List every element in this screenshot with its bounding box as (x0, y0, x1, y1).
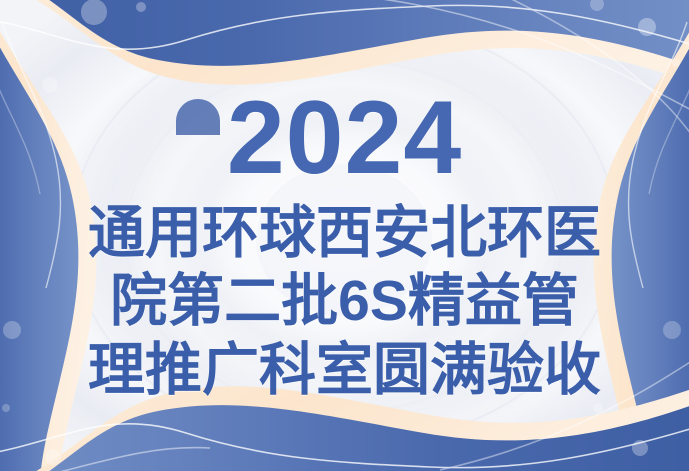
headline-line-2: 院第二批6S精益管 (110, 272, 579, 331)
poster-content: 2024 通用环球西安北环医 院第二批6S精益管 理推广科室圆满验收 (0, 0, 689, 471)
headline-block: 通用环球西安北环医 院第二批6S精益管 理推广科室圆满验收 (88, 204, 601, 400)
headline-line-1: 通用环球西安北环医 (88, 204, 601, 263)
poster-canvas: 2024 通用环球西安北环医 院第二批6S精益管 理推广科室圆满验收 (0, 0, 689, 471)
headline-line-3: 理推广科室圆满验收 (88, 341, 601, 400)
year-title: 2024 (227, 86, 462, 190)
